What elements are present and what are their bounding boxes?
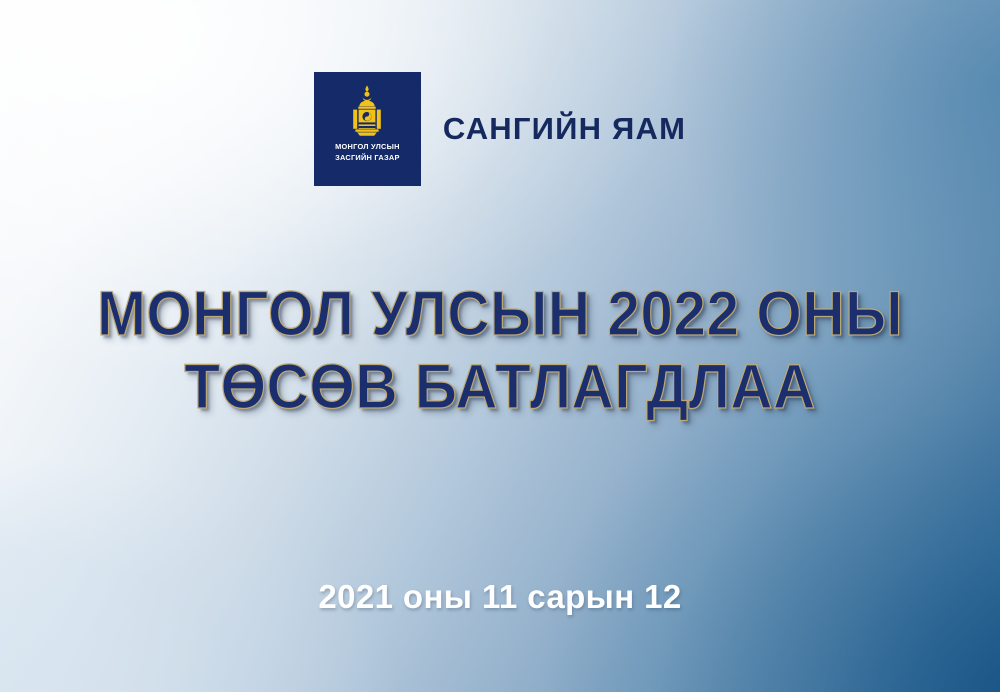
presentation-slide: МОНГОЛ УЛСЫН ЗАСГИЙН ГАЗАР САНГИЙН ЯАМ М… xyxy=(0,0,1000,692)
slide-title-line-2: ТӨСӨВ БАТЛАГДЛАА xyxy=(35,351,965,424)
government-logo-caption: МОНГОЛ УЛСЫН ЗАСГИЙН ГАЗАР xyxy=(335,142,400,163)
slide-date: 2021 оны 11 сарын 12 xyxy=(0,578,1000,616)
slide-date-text: 2021 оны 11 сарын 12 xyxy=(318,578,681,615)
slide-title: МОНГОЛ УЛСЫН 2022 ОНЫ ТӨСӨВ БАТЛАГДЛАА xyxy=(0,278,1000,424)
government-logo-caption-line2: ЗАСГИЙН ГАЗАР xyxy=(335,153,400,164)
slide-title-line-1: МОНГОЛ УЛСЫН 2022 ОНЫ xyxy=(35,278,965,351)
header-logo-lockup: МОНГОЛ УЛСЫН ЗАСГИЙН ГАЗАР САНГИЙН ЯАМ xyxy=(0,72,1000,186)
government-logo-caption-line1: МОНГОЛ УЛСЫН xyxy=(335,142,400,153)
ministry-name: САНГИЙН ЯАМ xyxy=(443,111,686,147)
mongolia-state-emblem-soyombo-icon xyxy=(350,85,384,137)
government-logo: МОНГОЛ УЛСЫН ЗАСГИЙН ГАЗАР xyxy=(314,72,421,186)
